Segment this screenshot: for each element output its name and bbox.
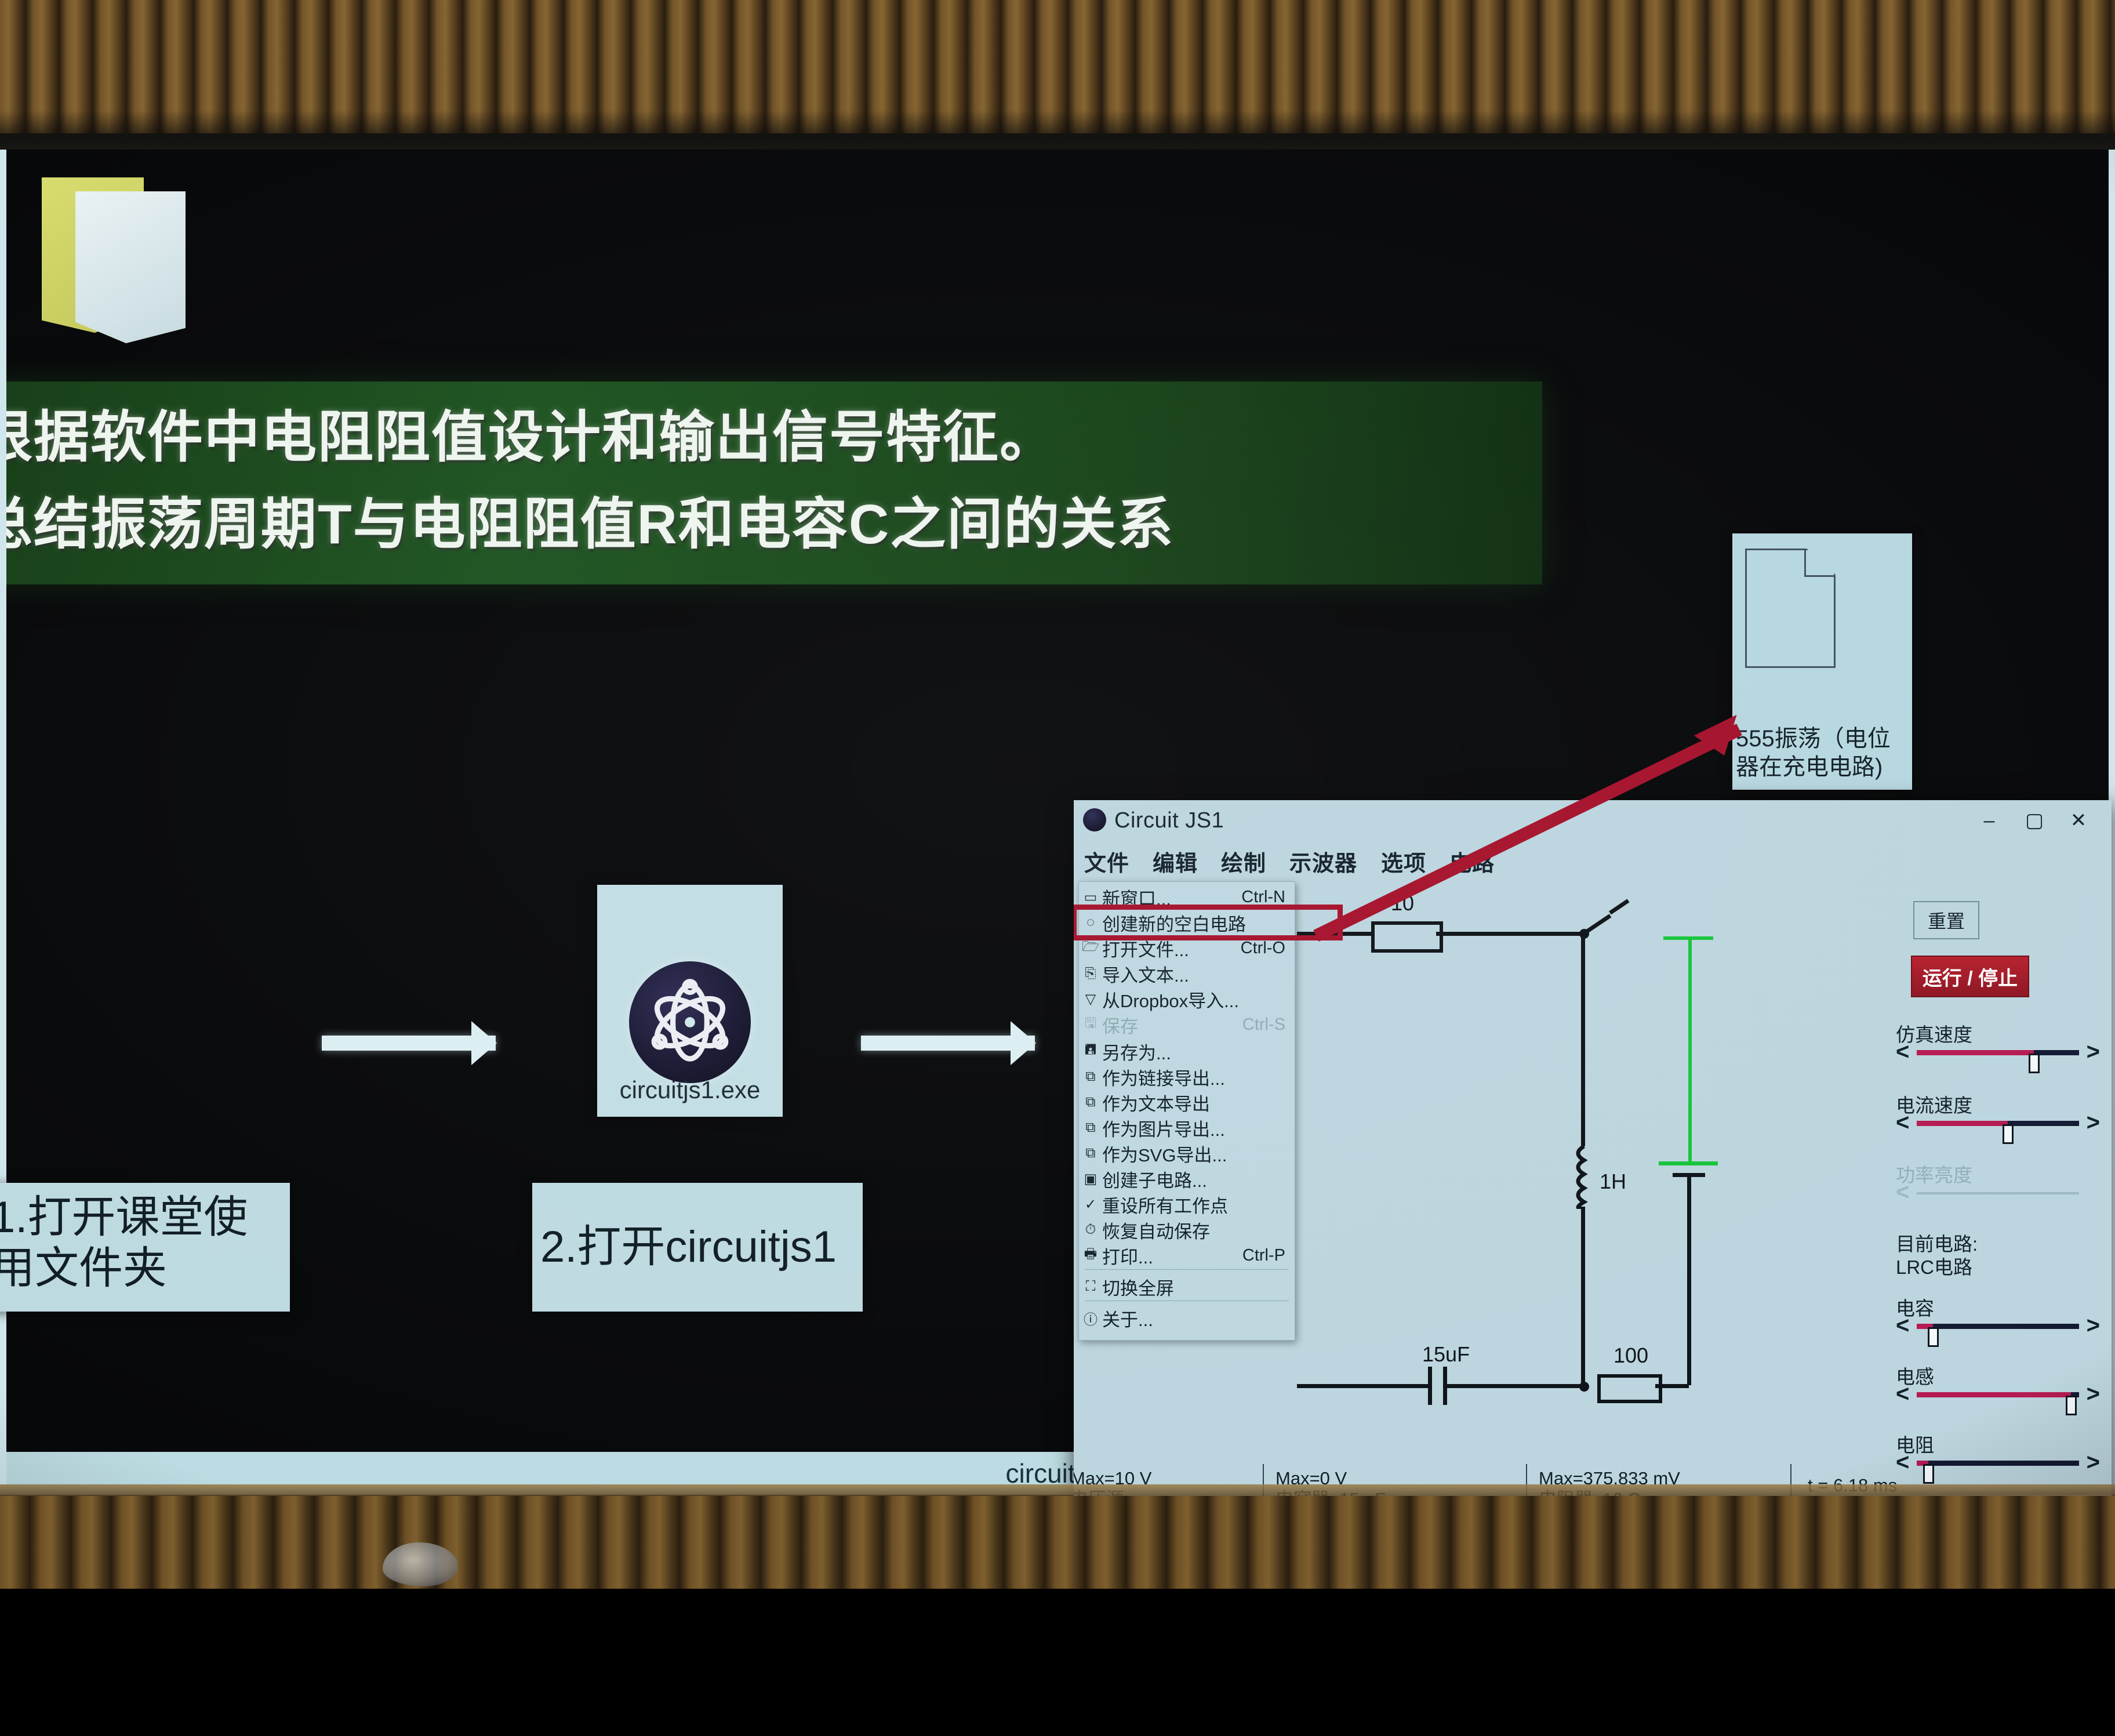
slider-decrease-icon[interactable]: <: [1896, 1111, 1909, 1134]
right-arrow-icon-1: [322, 1036, 496, 1051]
save-as-icon: 🖪: [1079, 1040, 1102, 1063]
circuitjs-window: Circuit JS1 – ▢ ✕ 文件 编辑 绘制 示波器 选项 电路 ▭新窗…: [1074, 800, 2112, 1566]
subcircuit-icon: ▣: [1079, 1171, 1102, 1187]
resistor-10[interactable]: [1371, 921, 1443, 953]
wire-bottom-left: [1297, 1384, 1428, 1388]
slider-fill: [1917, 1050, 2034, 1055]
slider-fill: [1917, 1392, 2071, 1397]
circuit-canvas[interactable]: 10 1H 15uF: [1297, 884, 1877, 1464]
menu-item-save-as: 🖪另存为...: [1079, 1040, 1295, 1063]
source-plate-top: [1663, 936, 1713, 940]
switch-blade: [1609, 899, 1629, 914]
slider-current-speed[interactable]: < >: [1896, 1110, 2100, 1136]
slider-track[interactable]: [1917, 1392, 2079, 1397]
right-arrow-icon-2: [861, 1036, 1035, 1051]
minimize-button[interactable]: –: [1976, 811, 2003, 830]
photo-of-projected-slide: 根据软件中电阻阻值设计和输出信号特征。 总结振荡周期T与电阻阻值R和电容C之间的…: [0, 0, 2115, 1586]
save-icon: 🖫: [1079, 1013, 1102, 1037]
fullscreen-icon: ⛶: [1079, 1279, 1102, 1295]
run-stop-button[interactable]: 运行 / 停止: [1911, 956, 2029, 997]
new-window-icon: ▭: [1079, 889, 1102, 906]
slider-capacitance[interactable]: < >: [1896, 1313, 2100, 1339]
menu-item-about: ⓘ关于...: [1079, 1306, 1295, 1330]
slider-power-brightness: <: [1896, 1179, 2100, 1206]
open-file-highlight-box: [1074, 905, 1343, 940]
menu-item-fullscreen: ⛶切换全屏: [1079, 1275, 1295, 1298]
menu-item-export-text: ⧉作为文本导出: [1079, 1091, 1295, 1114]
slider-knob[interactable]: [1928, 1327, 1939, 1347]
export-link-icon: ⧉: [1079, 1069, 1102, 1085]
circuitjs-logo-icon: [1083, 808, 1106, 831]
slider-track: [1917, 1192, 2079, 1194]
wire-bottom-right: [1655, 1384, 1689, 1388]
slider-increase-icon[interactable]: >: [2087, 1314, 2100, 1337]
menu-item-export-svg: ⧉作为SVG导出...: [1079, 1142, 1295, 1165]
slider-increase-icon[interactable]: >: [2087, 1040, 2100, 1063]
electron-atom-icon: [629, 961, 751, 1083]
menu-item-export-link: ⧉作为链接导出...: [1079, 1065, 1295, 1088]
wire-bottom-mid: [1447, 1384, 1581, 1388]
folder-tile: circuitjs1: [0, 150, 238, 405]
menu-draw[interactable]: 绘制: [1221, 845, 1266, 877]
slider-increase-icon[interactable]: >: [2087, 1111, 2100, 1134]
resistor-100-label: 100: [1613, 1343, 1648, 1368]
capacitor-plate-1[interactable]: [1428, 1367, 1432, 1405]
projection-screen: 根据软件中电阻阻值设计和输出信号特征。 总结振荡周期T与电阻阻值R和电容C之间的…: [0, 150, 2115, 1495]
slider-decrease-icon: <: [1896, 1181, 1909, 1204]
print-icon: 🖶: [1079, 1244, 1102, 1268]
maximize-button[interactable]: ▢: [2021, 811, 2048, 830]
file-menu-dropdown: ▭新窗口...Ctrl-N ◌创建新的空白电路 🗁打开文件...Ctrl-O ⎘…: [1078, 881, 1295, 1341]
slider-knob[interactable]: [2029, 1054, 2040, 1073]
capacitor-label: 15uF: [1422, 1342, 1470, 1367]
resistor-10-label: 10: [1391, 891, 1414, 916]
menu-item-save: 🖫保存Ctrl-S: [1079, 1013, 1295, 1036]
slider-knob[interactable]: [2066, 1396, 2077, 1415]
menu-edit[interactable]: 编辑: [1153, 845, 1198, 877]
reset-points-icon: ✓: [1079, 1196, 1102, 1213]
slider-inductance[interactable]: < >: [1896, 1381, 2100, 1408]
export-svg-icon: ⧉: [1079, 1145, 1102, 1161]
current-circuit-label: 目前电路:: [1896, 1233, 1978, 1256]
slider-knob[interactable]: [2003, 1124, 2014, 1144]
menu-item-import-dropbox: ▽从Dropbox导入...: [1079, 987, 1295, 1011]
about-icon: ⓘ: [1079, 1308, 1102, 1328]
switch-open-icon[interactable]: [1582, 914, 1611, 935]
window-titlebar: Circuit JS1 – ▢ ✕: [1074, 800, 2112, 841]
menu-scope[interactable]: 示波器: [1289, 845, 1357, 877]
menubar: 文件 编辑 绘制 示波器 选项 电路: [1074, 845, 2112, 880]
inductor-1h[interactable]: [1572, 1145, 1596, 1209]
menu-item-recover: ⏱恢复自动保存: [1079, 1218, 1295, 1241]
import-text-icon: ⎘: [1079, 965, 1102, 982]
slider-decrease-icon[interactable]: <: [1896, 1382, 1909, 1405]
recover-icon: ⏱: [1079, 1222, 1102, 1238]
slider-decrease-icon[interactable]: <: [1896, 1040, 1909, 1063]
menu-separator-1: [1085, 1269, 1289, 1270]
exe-label: circuitjs1.exe: [597, 1076, 783, 1104]
slider-track[interactable]: [1917, 1121, 2079, 1126]
reset-button[interactable]: 重置: [1913, 901, 1979, 939]
dropbox-icon: ▽: [1079, 991, 1102, 1008]
slider-sim-speed[interactable]: < >: [1896, 1039, 2100, 1066]
caption-step-1: 1.打开课堂使用文件夹: [0, 1183, 290, 1312]
wire-mid-lower: [1581, 1207, 1585, 1386]
menu-options[interactable]: 选项: [1381, 845, 1426, 877]
current-circuit-value: LRC电路: [1896, 1256, 1972, 1279]
room-wall-top: [0, 0, 2115, 151]
menu-item-reset-points: ✓重设所有工作点: [1079, 1193, 1295, 1216]
window-title: Circuit JS1: [1114, 808, 1224, 833]
export-image-icon: ⧉: [1079, 1120, 1102, 1136]
exe-tile: circuitjs1.exe: [597, 885, 783, 1117]
wire-top-right: [1436, 932, 1583, 936]
menu-item-import-text: ⎘导入文本...: [1079, 962, 1295, 985]
slider-fill: [1917, 1121, 2008, 1126]
menu-item-print: 🖶打印...Ctrl-P: [1079, 1244, 1295, 1267]
wire-source-down: [1687, 1173, 1691, 1385]
menu-item-subcircuit: ▣创建子电路...: [1079, 1167, 1295, 1190]
folder-icon: [42, 174, 187, 342]
wire-mid-upper: [1581, 932, 1585, 1146]
caption-step-2: 2.打开circuitjs1: [532, 1183, 863, 1312]
slider-increase-icon[interactable]: >: [2087, 1382, 2100, 1405]
slider-track[interactable]: [1917, 1324, 2079, 1329]
close-button[interactable]: ✕: [2065, 811, 2092, 830]
slider-track[interactable]: [1917, 1050, 2079, 1055]
inductor-label: 1H: [1600, 1170, 1626, 1194]
voltage-source-icon[interactable]: [1688, 938, 1692, 1164]
menu-item-export-image: ⧉作为图片导出...: [1079, 1116, 1295, 1139]
slider-decrease-icon[interactable]: <: [1896, 1314, 1909, 1337]
resistor-100[interactable]: [1597, 1374, 1662, 1403]
export-text-icon: ⧉: [1079, 1094, 1102, 1110]
menu-file[interactable]: 文件: [1084, 845, 1129, 877]
menu-circuit[interactable]: 电路: [1449, 845, 1495, 877]
folder-front-leaf: [75, 191, 186, 343]
menu-separator-2: [1085, 1301, 1289, 1301]
source-plate-long: [1659, 1161, 1718, 1165]
control-panel: 重置 运行 / 停止 仿真速度 < > 电流速度 < >: [1890, 887, 2105, 1502]
room-wall-bottom: [0, 1496, 2115, 1589]
